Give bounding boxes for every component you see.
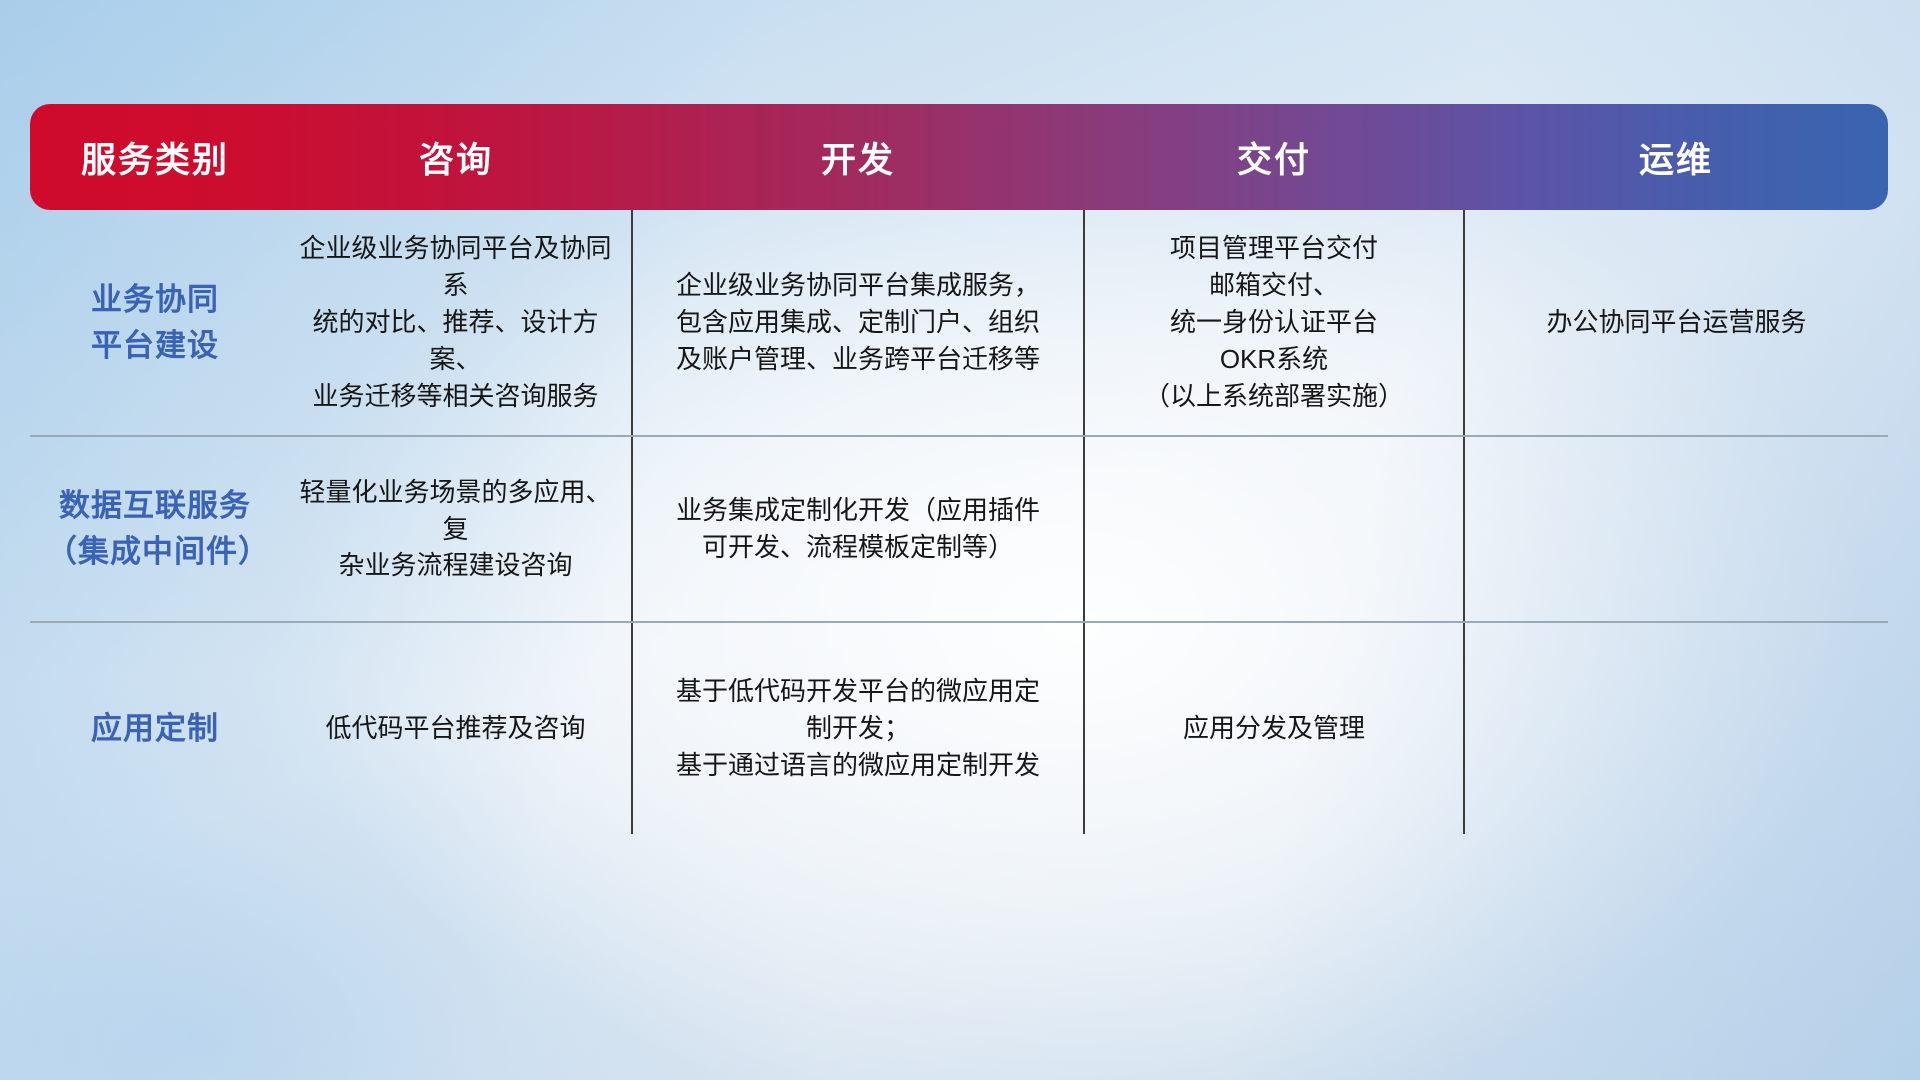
table-cell-operations xyxy=(1464,622,1888,834)
cell-line: 及账户管理、业务跨平台迁移等 xyxy=(649,341,1067,378)
table-body: 业务协同平台建设企业级业务协同平台及协同系统的对比、推荐、设计方案、业务迁移等相… xyxy=(30,210,1888,834)
table-header: 服务类别 咨询 开发 交付 运维 xyxy=(30,104,1888,210)
table-cell-delivery: 项目管理平台交付邮箱交付、统一身份认证平台OKR系统（以上系统部署实施） xyxy=(1084,210,1464,436)
cell-line: 杂业务流程建设咨询 xyxy=(296,547,615,584)
row-category-label: 应用定制 xyxy=(30,622,280,834)
column-header-delivery: 交付 xyxy=(1084,104,1464,210)
table-cell-consulting: 轻量化业务场景的多应用、复杂业务流程建设咨询 xyxy=(280,436,632,622)
cell-line: （以上系统部署实施） xyxy=(1101,378,1447,415)
cell-line: 包含应用集成、定制门户、组织 xyxy=(649,304,1067,341)
cell-line: 业务协同 xyxy=(46,277,264,323)
column-header-consulting: 咨询 xyxy=(280,104,632,210)
cell-line: 应用分发及管理 xyxy=(1101,710,1447,747)
table-cell-consulting: 企业级业务协同平台及协同系统的对比、推荐、设计方案、业务迁移等相关咨询服务 xyxy=(280,210,632,436)
column-header-development: 开发 xyxy=(632,104,1084,210)
service-matrix-container: 服务类别 咨询 开发 交付 运维 业务协同平台建设企业级业务协同平台及协同系统的… xyxy=(30,104,1888,944)
cell-line: 制开发； xyxy=(649,710,1067,747)
cell-line: 统一身份认证平台 xyxy=(1101,304,1447,341)
cell-line: 可开发、流程模板定制等） xyxy=(649,529,1067,566)
table-cell-operations: 办公协同平台运营服务 xyxy=(1464,210,1888,436)
column-header-category: 服务类别 xyxy=(30,104,280,210)
table-cell-development: 基于低代码开发平台的微应用定制开发；基于通过语言的微应用定制开发 xyxy=(632,622,1084,834)
cell-line: 平台建设 xyxy=(46,323,264,369)
table-row: 数据互联服务（集成中间件）轻量化业务场景的多应用、复杂业务流程建设咨询业务集成定… xyxy=(30,436,1888,622)
service-matrix-table: 服务类别 咨询 开发 交付 运维 业务协同平台建设企业级业务协同平台及协同系统的… xyxy=(30,104,1888,834)
cell-line: 邮箱交付、 xyxy=(1101,267,1447,304)
cell-line: 办公协同平台运营服务 xyxy=(1481,304,1872,341)
cell-line: （集成中间件） xyxy=(46,529,264,575)
cell-line: OKR系统 xyxy=(1101,341,1447,378)
table-row: 业务协同平台建设企业级业务协同平台及协同系统的对比、推荐、设计方案、业务迁移等相… xyxy=(30,210,1888,436)
cell-line: 企业级业务协同平台及协同系 xyxy=(296,230,615,304)
cell-line: 业务迁移等相关咨询服务 xyxy=(296,378,615,415)
table-cell-development: 企业级业务协同平台集成服务，包含应用集成、定制门户、组织及账户管理、业务跨平台迁… xyxy=(632,210,1084,436)
column-header-operations: 运维 xyxy=(1464,104,1888,210)
table-cell-operations xyxy=(1464,436,1888,622)
cell-line: 统的对比、推荐、设计方案、 xyxy=(296,304,615,378)
table-row: 应用定制低代码平台推荐及咨询基于低代码开发平台的微应用定制开发；基于通过语言的微… xyxy=(30,622,1888,834)
cell-line: 项目管理平台交付 xyxy=(1101,230,1447,267)
cell-line: 业务集成定制化开发（应用插件 xyxy=(649,492,1067,529)
cell-line: 数据互联服务 xyxy=(46,483,264,529)
cell-line: 应用定制 xyxy=(46,706,264,752)
table-cell-development: 业务集成定制化开发（应用插件可开发、流程模板定制等） xyxy=(632,436,1084,622)
row-category-label: 数据互联服务（集成中间件） xyxy=(30,436,280,622)
cell-line: 企业级业务协同平台集成服务， xyxy=(649,267,1067,304)
cell-line: 基于通过语言的微应用定制开发 xyxy=(649,747,1067,784)
table-cell-consulting: 低代码平台推荐及咨询 xyxy=(280,622,632,834)
cell-line: 基于低代码开发平台的微应用定 xyxy=(649,673,1067,710)
table-cell-delivery: 应用分发及管理 xyxy=(1084,622,1464,834)
cell-line: 轻量化业务场景的多应用、复 xyxy=(296,474,615,548)
row-category-label: 业务协同平台建设 xyxy=(30,210,280,436)
table-header-row: 服务类别 咨询 开发 交付 运维 xyxy=(30,104,1888,210)
table-cell-delivery xyxy=(1084,436,1464,622)
cell-line: 低代码平台推荐及咨询 xyxy=(296,710,615,747)
